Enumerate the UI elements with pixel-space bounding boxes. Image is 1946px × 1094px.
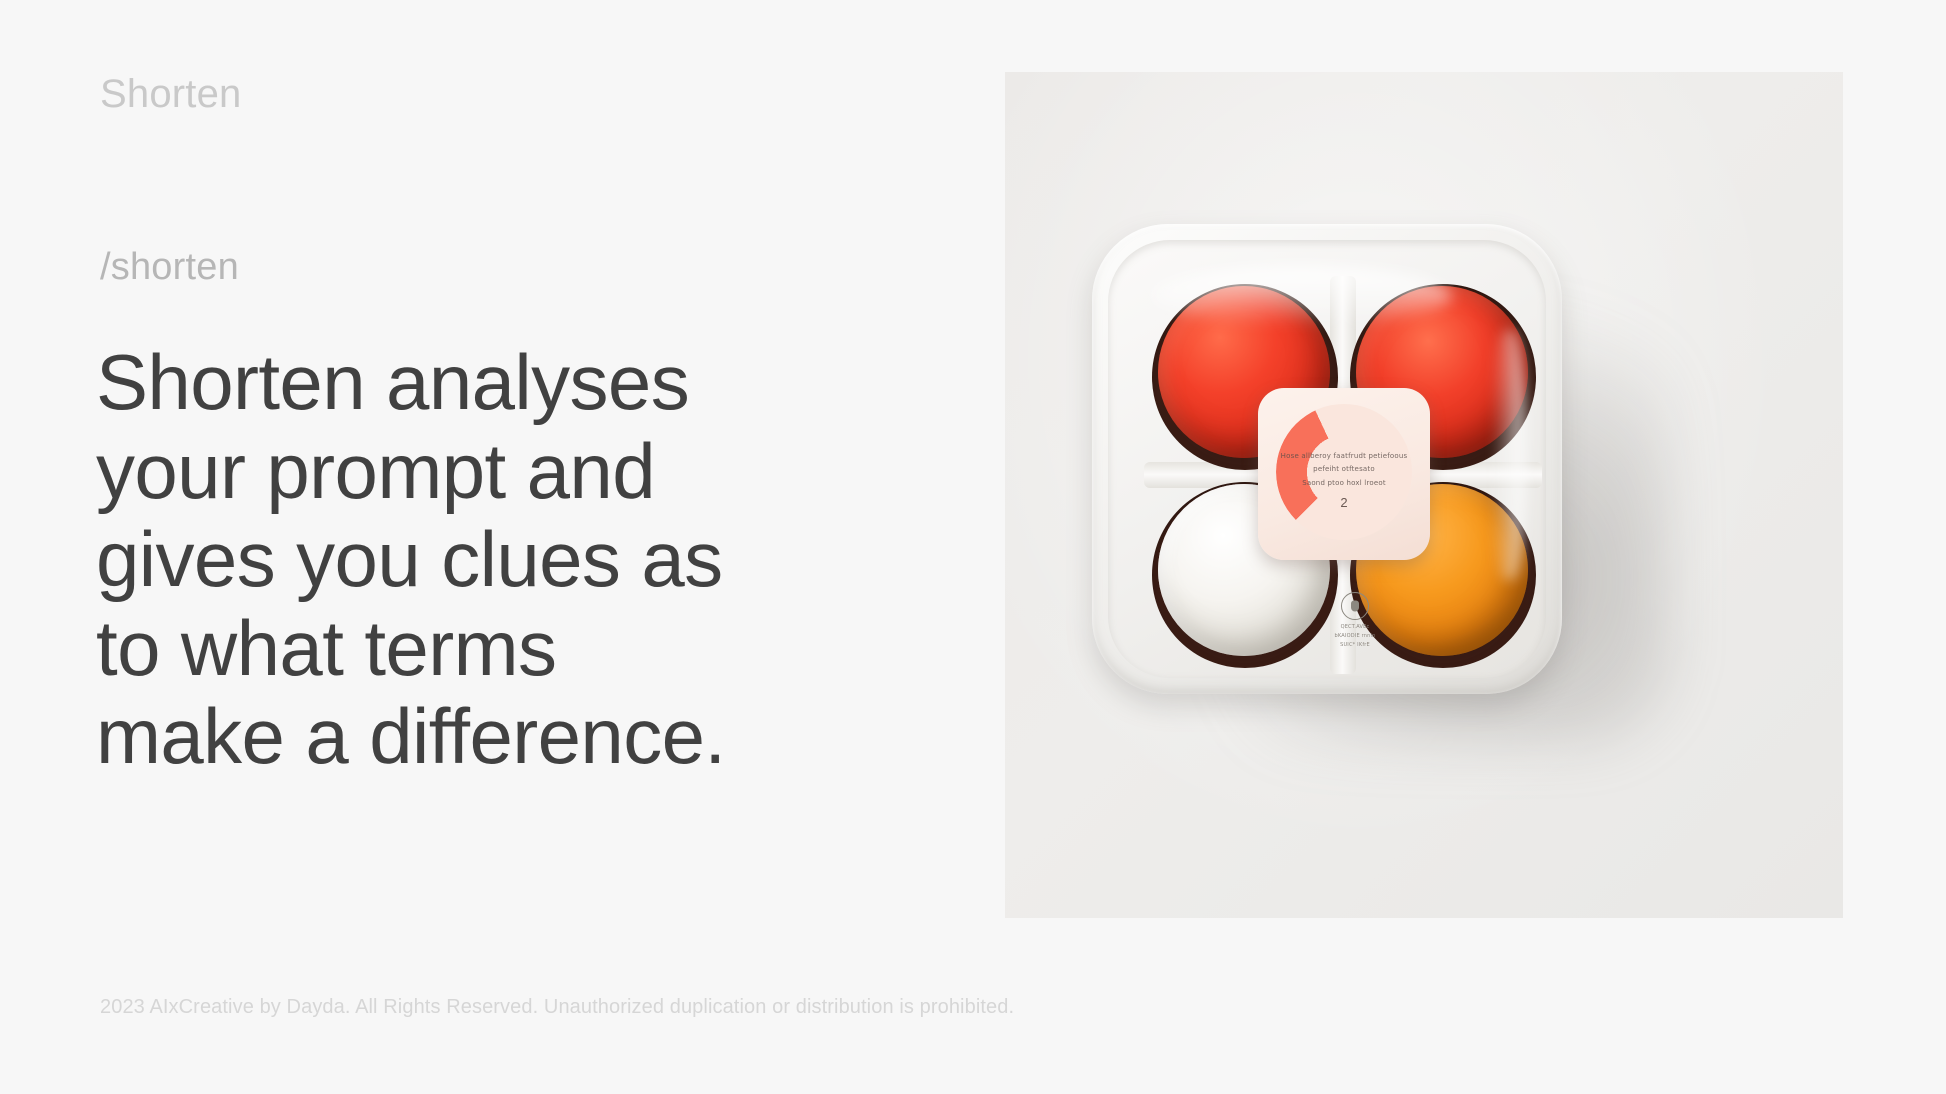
center-label-card: Hose allberoy faatfrudt petiefoous pefei…	[1258, 388, 1430, 560]
label-text-line-3: Saond ptoo hoxl lroeot	[1258, 477, 1430, 490]
tray-gloss-top	[1152, 266, 1452, 326]
page-title: Shorten analyses your prompt and gives y…	[96, 338, 896, 781]
headline-line-2: your prompt and	[96, 427, 896, 516]
headline-line-1: Shorten analyses	[96, 338, 896, 427]
tray-gloss-right	[1492, 330, 1526, 580]
slash-command-label: /shorten	[100, 248, 239, 286]
product-photo: QECT.AVEc bKAIODIE rnnin SUIC* IKfrE Hos…	[1005, 72, 1843, 918]
text-column: Shorten /shorten Shorten analyses your p…	[0, 0, 1005, 1094]
label-text-line-2: pefeiht otftesato	[1258, 463, 1430, 476]
recycling-stamp: QECT.AVEc bKAIODIE rnnin SUIC* IKfrE	[1327, 592, 1383, 649]
copyright-notice: 2023 AIxCreative by Dayda. All Rights Re…	[100, 996, 1014, 1019]
headline-line-3: gives you clues as	[96, 515, 896, 604]
tray-rim: QECT.AVEc bKAIODIE rnnin SUIC* IKfrE Hos…	[1108, 240, 1546, 678]
product-tray: QECT.AVEc bKAIODIE rnnin SUIC* IKfrE Hos…	[1092, 224, 1562, 694]
headline-line-5: make a difference.	[96, 692, 896, 781]
label-text-line-1: Hose allberoy faatfrudt petiefoous	[1258, 450, 1430, 463]
stamp-text-line-1: QECT.AVEc	[1327, 623, 1383, 632]
stamp-text-line-3: SUIC* IKfrE	[1327, 641, 1383, 650]
stamp-text-line-2: bKAIODIE rnnin	[1327, 632, 1383, 641]
tray-inner: QECT.AVEc bKAIODIE rnnin SUIC* IKfrE Hos…	[1138, 270, 1516, 648]
slide-eyebrow: Shorten	[100, 74, 242, 114]
label-number: 2	[1258, 496, 1430, 509]
headline-line-4: to what terms	[96, 604, 896, 693]
recycle-bin-stamp-icon	[1341, 592, 1369, 620]
label-text-block: Hose allberoy faatfrudt petiefoous pefei…	[1258, 450, 1430, 509]
